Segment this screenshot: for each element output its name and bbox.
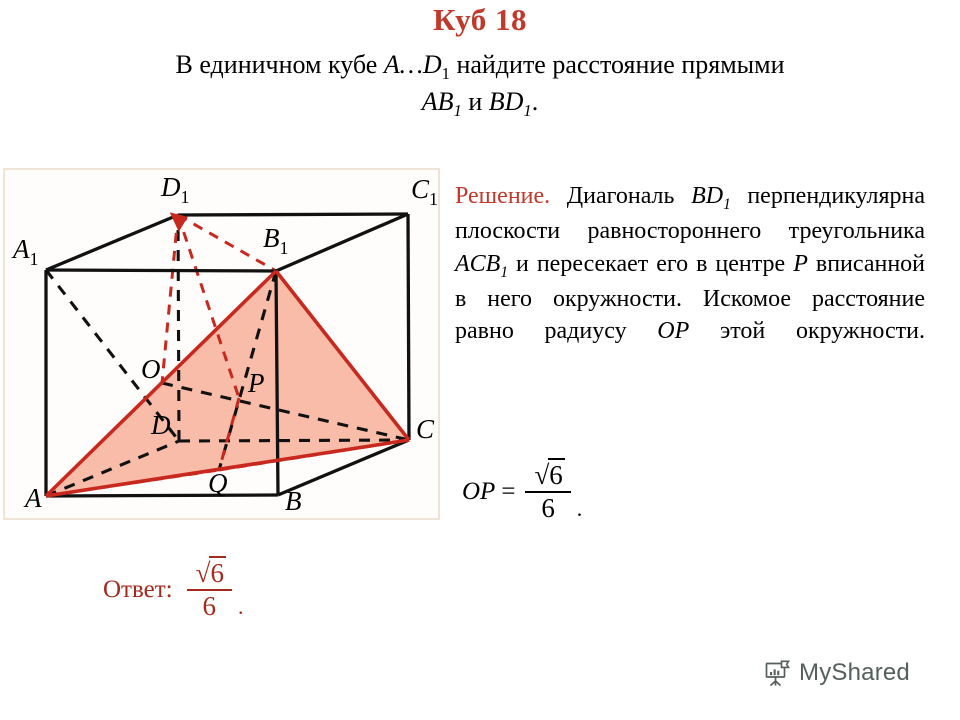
- op-formula-label: OP: [462, 478, 495, 506]
- radical-icon: √6: [531, 462, 564, 489]
- solution-var-bd: BD: [691, 183, 723, 209]
- watermark: MyShared: [762, 658, 910, 688]
- solution-var-acb-subscript: 1: [500, 263, 508, 280]
- solution-var-bd-subscript: 1: [723, 196, 731, 213]
- problem-text-post: найдите расстояние прямыми: [450, 50, 785, 79]
- vertex-label-D1-subscript: 1: [181, 187, 190, 207]
- problem-statement: В единичном кубе A…D1 найдите расстояние…: [40, 48, 920, 123]
- watermark-label: MyShared: [799, 659, 910, 687]
- vertex-label-B1-subscript: 1: [280, 238, 289, 258]
- problem-conjunction: и: [462, 87, 489, 116]
- red-line-D1-B1: [178, 215, 276, 271]
- vertex-label-O: O: [141, 354, 161, 384]
- vertex-label-A1-subscript: 1: [30, 249, 39, 269]
- edge-B1-C1: [276, 214, 408, 271]
- solution-keyword: Решение.: [455, 183, 550, 209]
- solution-paragraph: Решение. Диагональ BD1 перпендикулярна п…: [455, 180, 925, 379]
- problem-line-2: AB1 и BD1.: [40, 85, 920, 122]
- op-formula: OP = √6 6 .: [462, 462, 582, 522]
- answer-line: Ответ: √6 6 .: [103, 560, 243, 620]
- op-formula-denominator: 6: [541, 493, 555, 522]
- solution-text: Решение. Диагональ BD1 перпендикулярна п…: [455, 180, 925, 379]
- edge-C1-C: [408, 214, 409, 440]
- problem-var-d-subscript: 1: [442, 64, 450, 83]
- vertex-label-A: A: [23, 483, 42, 513]
- problem-var-a: A: [384, 50, 400, 79]
- cube-diagram: ABCDA1B1C1D1OPQ: [5, 170, 438, 518]
- vertex-label-C: C: [416, 414, 435, 444]
- vertex-label-B1: B1: [263, 223, 289, 258]
- vertex-label-P: P: [247, 368, 265, 398]
- cube-figure-frame: ABCDA1B1C1D1OPQ: [3, 168, 440, 520]
- edge-A1-B1: [46, 270, 276, 271]
- solution-text-5: этой окружности.: [689, 318, 925, 344]
- problem-line-ab: AB: [422, 87, 454, 116]
- solution-text-1: Диагональ: [550, 183, 691, 209]
- vertex-marker-D1: [173, 215, 185, 228]
- vertex-label-D1: D1: [160, 172, 190, 207]
- answer-period: .: [238, 594, 244, 620]
- vertex-label-D: D: [150, 410, 171, 440]
- op-formula-equals: =: [501, 478, 515, 506]
- answer-fraction: √6 6: [187, 560, 232, 620]
- op-formula-period: .: [577, 496, 583, 522]
- red-line-D1-O: [162, 215, 178, 383]
- problem-var-d: D: [423, 50, 442, 79]
- solution-var-acb: ACB: [455, 251, 500, 277]
- answer-denominator: 6: [203, 591, 217, 620]
- vertex-label-B: B: [285, 486, 302, 516]
- radical-icon: √6: [193, 560, 226, 587]
- vertex-label-A1: A1: [11, 234, 39, 269]
- edge-A-B: [46, 495, 278, 496]
- edge-A1-D1: [46, 215, 178, 270]
- problem-line-ab-subscript: 1: [454, 102, 462, 121]
- edge-D1-C1: [178, 214, 408, 215]
- problem-line-bd-subscript: 1: [523, 102, 531, 121]
- answer-radicand: 6: [209, 556, 226, 588]
- problem-ellipsis: …: [400, 50, 423, 79]
- presentation-board-icon: [762, 658, 792, 688]
- vertex-label-C1-subscript: 1: [429, 189, 438, 209]
- problem-line-bd: BD: [489, 87, 524, 116]
- answer-label: Ответ:: [103, 576, 173, 604]
- solution-text-3: и пересекает его в центре: [508, 251, 793, 277]
- solution-var-p: P: [793, 251, 808, 277]
- problem-text-pre: В единичном кубе: [176, 50, 384, 79]
- op-formula-fraction: √6 6: [525, 462, 570, 522]
- problem-line-1: В единичном кубе A…D1 найдите расстояние…: [40, 48, 920, 85]
- op-formula-radicand: 6: [548, 458, 565, 490]
- answer-numerator: √6: [187, 560, 232, 591]
- problem-period: .: [532, 87, 539, 116]
- op-formula-numerator: √6: [525, 462, 570, 493]
- vertex-label-Q: Q: [208, 468, 228, 498]
- solution-var-op: OP: [657, 318, 689, 344]
- page-title: Куб 18: [0, 2, 960, 38]
- vertex-label-C1: C1: [411, 174, 438, 209]
